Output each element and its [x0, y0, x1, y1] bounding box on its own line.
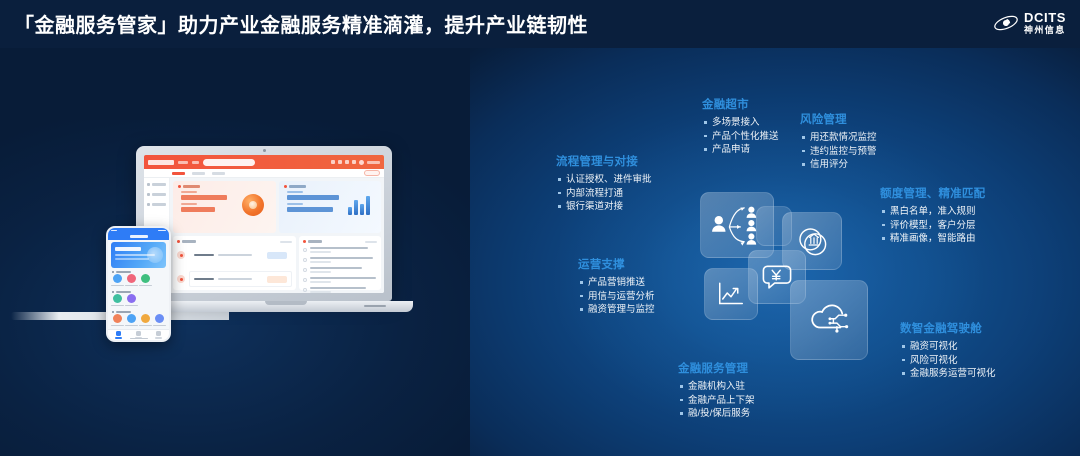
section-header — [112, 271, 165, 273]
step-node-icon — [177, 251, 185, 259]
status-badge — [267, 252, 287, 259]
app-icon — [113, 314, 122, 323]
item-lines — [310, 287, 377, 293]
app-label — [111, 305, 124, 307]
stat-value — [287, 207, 333, 212]
sidebar-item[interactable] — [147, 203, 166, 206]
block-list: 黑白名单，准入规则 评价模型，客户分层 精准画像，智能路由 — [880, 205, 985, 246]
logo-wordmark: DCITS 神州信息 — [1024, 11, 1066, 35]
slide-canvas: 「金融服务管家」助力产业金融服务精准滴灌，提升产业链韧性 DCITS 神州信息 … — [0, 0, 1080, 456]
block-list: 用还款情况监控 违约监控与预警 信用评分 — [800, 131, 877, 172]
list-item: 风险可视化 — [900, 354, 996, 368]
section-icon — [112, 311, 114, 313]
list-item[interactable] — [303, 287, 377, 293]
sidebar-label — [152, 193, 166, 196]
text-block-financial-service-management: 金融服务管理 金融机构入驻 金融产品上下架 融/投/保后服务 — [678, 360, 755, 421]
card-growth-chart — [704, 268, 758, 320]
item-title — [194, 254, 214, 257]
block-list: 多场景接入 产品个性化推送 产品申请 — [702, 116, 779, 157]
text-block-financial-supermarket: 金融超市 多场景接入 产品个性化推送 产品申请 — [702, 96, 779, 157]
section-icon — [112, 291, 114, 293]
sidebar-label — [152, 203, 166, 206]
app-tile[interactable] — [111, 314, 125, 326]
item-lines — [310, 247, 377, 253]
sidebar-item[interactable] — [147, 193, 166, 196]
step-node-icon — [177, 275, 185, 283]
stat-card-statistics — [279, 181, 382, 233]
item-subtitle — [218, 254, 252, 256]
list-item[interactable] — [303, 267, 377, 273]
list-item: 信用评分 — [800, 158, 877, 172]
block-heading: 数智金融驾驶舱 — [900, 320, 996, 336]
app-grid — [108, 274, 169, 288]
sidebar-icon — [147, 193, 150, 196]
user-icon — [156, 331, 161, 336]
banner-decoration — [147, 247, 163, 263]
panel-title — [182, 240, 196, 243]
tab-label — [115, 337, 122, 338]
laptop-foot — [364, 305, 386, 307]
item-lines — [310, 277, 377, 283]
grid-icon[interactable] — [331, 160, 335, 164]
status-badge — [267, 276, 287, 283]
phone-home-indicator — [130, 338, 148, 340]
block-list: 产品营销推送 用信与运营分析 融资管理与监控 — [578, 276, 655, 317]
status-icons — [158, 230, 166, 232]
app-icon — [127, 294, 136, 303]
dashboard-logo — [148, 160, 174, 165]
panel-more-link[interactable] — [280, 241, 292, 243]
list-item[interactable] — [303, 257, 377, 263]
avatar[interactable] — [359, 160, 364, 165]
block-heading: 运营支撑 — [578, 256, 655, 272]
dashboard-nav-item[interactable] — [178, 161, 188, 164]
list-item: 多场景接入 — [702, 116, 779, 130]
list-item: 融/投/保后服务 — [678, 407, 755, 421]
card-cloud-circuit — [790, 280, 868, 360]
app-label — [111, 285, 124, 287]
panel-announcements — [299, 236, 381, 290]
app-tile[interactable] — [125, 294, 139, 306]
page-title: 「金融服务管家」助力产业金融服务精准滴灌，提升产业链韧性 — [14, 9, 588, 38]
item-subtitle — [218, 278, 252, 280]
list-item: 用还款情况监控 — [800, 131, 877, 145]
status-time — [111, 230, 117, 232]
block-list: 认证授权、进件审批 内部流程打通 银行渠道对接 — [556, 173, 652, 214]
list-item: 认证授权、进件审批 — [556, 173, 652, 187]
app-tile-empty — [152, 294, 166, 306]
dashboard-action-button[interactable] — [364, 170, 380, 176]
text-block-operation-support: 运营支撑 产品营销推送 用信与运营分析 融资管理与监控 — [578, 256, 655, 317]
sidebar-label — [152, 183, 166, 186]
list-item: 融资管理与监控 — [578, 303, 655, 317]
phone-screen — [108, 228, 169, 340]
panel-process-list — [173, 236, 296, 290]
app-tile[interactable] — [125, 274, 139, 286]
section-title — [116, 291, 131, 293]
app-tile[interactable] — [125, 314, 139, 326]
app-label — [125, 285, 138, 287]
list-item: 用信与运营分析 — [578, 290, 655, 304]
app-tile[interactable] — [111, 294, 125, 306]
card-title — [284, 185, 377, 188]
list-item[interactable] — [177, 271, 292, 287]
block-heading: 流程管理与对接 — [556, 153, 652, 169]
app-label — [125, 305, 138, 307]
stat-value — [181, 195, 227, 200]
list-item: 精准画像，智能路由 — [880, 232, 985, 246]
laptop-screen — [144, 155, 384, 293]
panel-icon — [303, 240, 306, 243]
list-item: 产品申请 — [702, 143, 779, 157]
section-header — [112, 311, 165, 313]
item-content — [189, 247, 292, 263]
bullet-icon — [303, 248, 307, 252]
app-tile-empty — [139, 294, 153, 306]
list-item: 评价模型，客户分层 — [880, 219, 985, 233]
stat-label — [181, 191, 197, 193]
app-icon — [155, 314, 164, 323]
list-item: 金融机构入驻 — [678, 380, 755, 394]
dashboard-lower-row — [173, 236, 381, 290]
app-tile[interactable] — [152, 314, 166, 326]
block-list: 金融机构入驻 金融产品上下架 融/投/保后服务 — [678, 380, 755, 421]
text-block-digital-finance-cockpit: 数智金融驾驶舱 融资可视化 风险可视化 金融服务运营可视化 — [900, 320, 996, 381]
bullet-icon — [303, 278, 307, 282]
app-icon — [113, 274, 122, 283]
panel-icon — [177, 240, 180, 243]
list-item[interactable] — [303, 277, 377, 283]
app-label — [139, 325, 152, 327]
list-item: 金融产品上下架 — [678, 394, 755, 408]
text-block-credit-limit-matching: 额度管理、精准匹配 黑白名单，准入规则 评价模型，客户分层 精准画像，智能路由 — [880, 185, 985, 246]
tab-second[interactable] — [192, 172, 205, 175]
tab-label — [155, 337, 162, 338]
stat-card-funding — [173, 181, 276, 233]
section-header — [112, 291, 165, 293]
laptop-camera-icon — [263, 149, 266, 152]
tab-home[interactable] — [115, 331, 122, 338]
bullet-icon — [303, 288, 307, 292]
dashboard-tabs — [144, 169, 384, 178]
logo-text-en: DCITS — [1024, 11, 1066, 24]
bullet-icon — [303, 258, 307, 262]
sidebar-icon — [147, 203, 150, 206]
app-label — [111, 325, 124, 327]
tab-third[interactable] — [212, 172, 225, 175]
speech-currency-icon — [761, 263, 793, 292]
panel-header — [177, 240, 292, 243]
dashboard-nav-item[interactable] — [192, 161, 199, 164]
section-title — [116, 311, 131, 313]
bell-icon[interactable] — [338, 160, 342, 164]
item-content — [189, 271, 292, 287]
panel-title — [308, 240, 322, 243]
settings-icon[interactable] — [352, 160, 356, 164]
item-lines — [310, 257, 377, 263]
phone-nav-title — [130, 235, 148, 238]
logo-text-cn: 神州信息 — [1024, 26, 1066, 35]
stat-value — [287, 195, 339, 200]
list-item: 内部流程打通 — [556, 187, 652, 201]
app-tile[interactable] — [139, 274, 153, 286]
card-title-icon — [284, 185, 287, 188]
item-lines — [310, 267, 377, 273]
list-item: 违约监控与预警 — [800, 145, 877, 159]
text-block-risk-management: 风险管理 用还款情况监控 违约监控与预警 信用评分 — [800, 111, 877, 172]
app-icon — [141, 274, 150, 283]
list-item: 金融服务运营可视化 — [900, 367, 996, 381]
block-heading: 额度管理、精准匹配 — [880, 185, 985, 201]
phone-mockup — [106, 226, 171, 342]
laptop-notch — [265, 301, 307, 305]
section-title — [116, 271, 131, 273]
device-mockups — [106, 142, 466, 342]
decorative-orb — [242, 194, 264, 216]
block-heading: 金融超市 — [702, 96, 779, 112]
help-icon[interactable] — [345, 160, 349, 164]
block-heading: 金融服务管理 — [678, 360, 755, 376]
card-title-icon — [178, 185, 181, 188]
brand-logo: DCITS 神州信息 — [993, 8, 1066, 38]
card-title — [178, 185, 271, 188]
list-item[interactable] — [303, 247, 377, 253]
dashboard-stat-row — [173, 181, 381, 233]
app-icon — [113, 294, 122, 303]
galaxy-swirl-icon — [993, 11, 1019, 35]
bullet-icon — [303, 268, 307, 272]
stat-label — [287, 203, 303, 205]
sidebar-item[interactable] — [147, 183, 166, 186]
app-icon — [127, 314, 136, 323]
banner-title — [115, 247, 141, 251]
app-label — [139, 285, 152, 287]
tab-overview[interactable] — [172, 172, 185, 175]
stat-label — [287, 191, 303, 193]
list-item: 银行渠道对接 — [556, 200, 652, 214]
app-grid — [108, 294, 169, 308]
phone-hero-banner — [111, 242, 166, 268]
section-icon — [112, 271, 114, 273]
card-title-text — [289, 185, 306, 188]
username-label — [367, 161, 380, 164]
app-label — [125, 325, 138, 327]
dashboard-search-input[interactable] — [203, 159, 255, 166]
dashboard-main — [170, 178, 384, 293]
list-item[interactable] — [177, 247, 292, 263]
phone-navbar — [108, 233, 169, 240]
header-bar: 「金融服务管家」助力产业金融服务精准滴灌，提升产业链韧性 DCITS 神州信息 — [0, 0, 1080, 48]
block-heading: 风险管理 — [800, 111, 877, 127]
laptop-mockup — [136, 146, 392, 301]
app-tile[interactable] — [111, 274, 125, 286]
bar-chart-icon — [348, 193, 374, 215]
panel-more-link[interactable] — [365, 241, 377, 243]
message-icon — [136, 331, 141, 336]
card-title-text — [183, 185, 200, 188]
home-icon — [116, 331, 121, 336]
dashboard-toolbar-icons — [331, 160, 380, 165]
banner-subtitle — [115, 258, 149, 260]
app-tile-empty — [152, 274, 166, 286]
icon-cluster — [698, 190, 878, 370]
tab-profile[interactable] — [155, 331, 162, 338]
app-label — [153, 325, 166, 327]
dashboard-topbar — [144, 155, 384, 169]
dashboard-body — [144, 178, 384, 293]
stat-value — [181, 207, 215, 212]
app-icon — [127, 274, 136, 283]
item-title — [194, 278, 214, 281]
app-icon — [141, 314, 150, 323]
list-item: 融资可视化 — [900, 340, 996, 354]
list-item: 产品营销推送 — [578, 276, 655, 290]
block-list: 融资可视化 风险可视化 金融服务运营可视化 — [900, 340, 996, 381]
stat-label — [181, 203, 197, 205]
growth-chart-icon — [716, 281, 746, 308]
list-item: 黑白名单，准入规则 — [880, 205, 985, 219]
app-tile[interactable] — [139, 314, 153, 326]
cloud-circuit-icon — [807, 302, 851, 339]
panel-header — [303, 240, 377, 243]
app-grid — [108, 314, 169, 328]
sidebar-icon — [147, 183, 150, 186]
text-block-process-management: 流程管理与对接 认证授权、进件审批 内部流程打通 银行渠道对接 — [556, 153, 652, 214]
list-item: 产品个性化推送 — [702, 130, 779, 144]
